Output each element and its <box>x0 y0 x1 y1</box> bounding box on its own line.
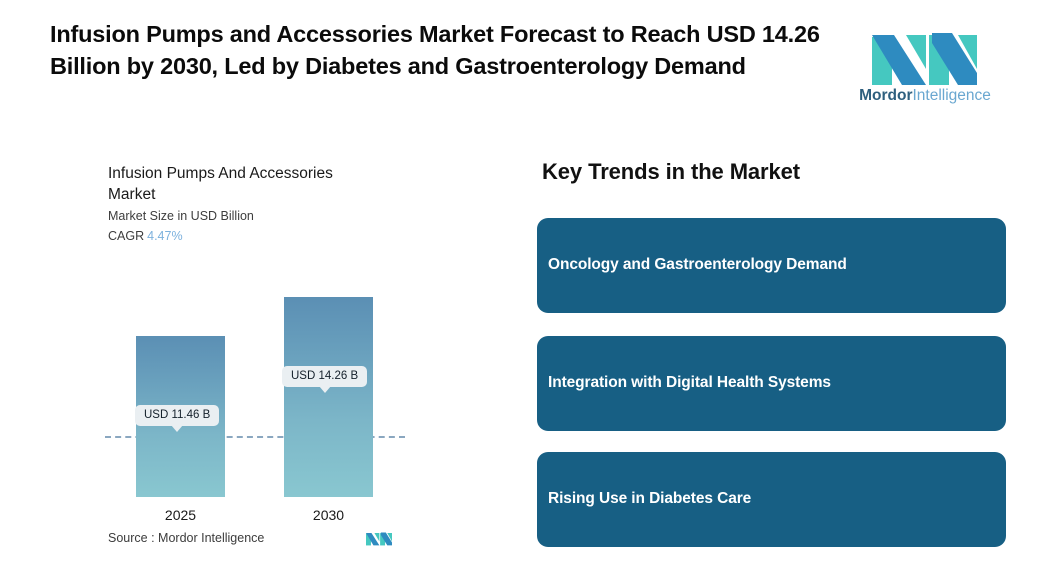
chart-subtitle: Market Size in USD Billion <box>108 209 254 223</box>
trend-card-label: Oncology and Gastroenterology Demand <box>548 256 847 274</box>
trend-card-label: Rising Use in Diabetes Care <box>548 490 751 508</box>
logo-word-mordor: Mordor <box>859 87 912 104</box>
key-trends-heading: Key Trends in the Market <box>542 159 800 185</box>
page-header: Infusion Pumps and Accessories Market Fo… <box>0 0 1039 125</box>
bar-category-label-2025: 2025 <box>136 507 225 523</box>
cagr-value: 4.47% <box>147 229 182 243</box>
source-name: Mordor Intelligence <box>158 531 264 545</box>
mordor-m-logo-icon <box>872 29 977 85</box>
brand-logo: MordorIntelligence <box>855 25 995 110</box>
bar-value-tooltip-2030: USD 14.26 B <box>282 366 367 387</box>
market-size-chart: Infusion Pumps And Accessories Market Ma… <box>88 150 418 560</box>
bar-2030[interactable]: 2030 <box>284 297 373 497</box>
page-title: Infusion Pumps and Accessories Market Fo… <box>50 18 820 82</box>
key-trends-panel: Key Trends in the Market Oncology and Ga… <box>537 150 1007 550</box>
trend-card-digital-health[interactable]: Integration with Digital Health Systems <box>537 336 1006 431</box>
trend-card-diabetes-care[interactable]: Rising Use in Diabetes Care <box>537 452 1006 547</box>
trend-card-oncology-gastroenterology[interactable]: Oncology and Gastroenterology Demand <box>537 218 1006 313</box>
chart-plot-area: USD 11.46 B USD 14.26 B 2025 2030 <box>88 255 418 505</box>
logo-word-intelligence: Intelligence <box>912 87 990 104</box>
mordor-m-mark-icon <box>366 531 392 546</box>
trend-card-label: Integration with Digital Health Systems <box>548 374 831 392</box>
chart-source: Source : Mordor Intelligence <box>108 528 408 552</box>
bar-category-label-2030: 2030 <box>284 507 373 523</box>
cagr-label: CAGR <box>108 229 144 243</box>
source-label: Source : <box>108 531 155 545</box>
chart-title: Infusion Pumps And Accessories Market <box>108 163 370 205</box>
source-text: Source : Mordor Intelligence <box>108 531 264 545</box>
chart-cagr: CAGR4.47% <box>108 229 183 243</box>
logo-wordmark: MordorIntelligence <box>855 87 995 105</box>
bar-value-tooltip-2025: USD 11.46 B <box>135 405 219 426</box>
